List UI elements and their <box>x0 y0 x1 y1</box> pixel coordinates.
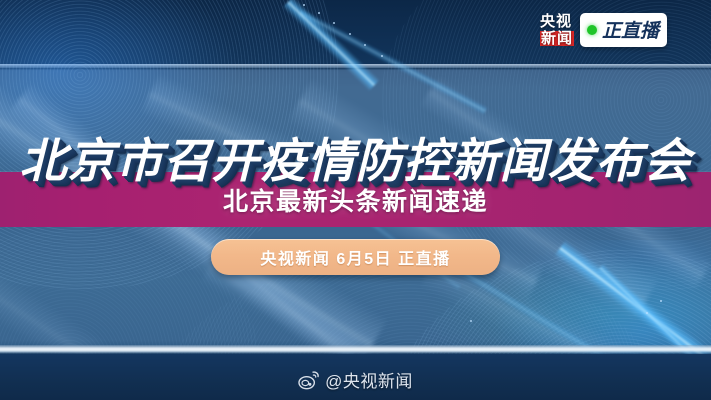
live-info-pill[interactable]: 央视新闻 6月5日 正直播 <box>211 239 500 275</box>
cctv-logo-line-2: 新闻 <box>540 31 574 46</box>
news-poster: 北京市召开疫情防控新闻发布会 北京最新头条新闻速递 央视新闻 6月5日 正直播 … <box>0 0 711 400</box>
cctv-logo-line-1: 央视 <box>540 14 574 29</box>
live-status-chip[interactable]: 正直播 <box>580 13 667 47</box>
green-dot-icon <box>587 25 597 35</box>
live-status-label: 正直播 <box>602 16 659 43</box>
cctv-live-badge[interactable]: 央视 新闻 正直播 <box>540 13 667 47</box>
cctv-news-logo: 央视 新闻 <box>540 14 574 46</box>
bottom-divider-band <box>0 345 711 354</box>
live-info-pill-label: 央视新闻 6月5日 正直播 <box>260 245 450 269</box>
headline-text: 北京市召开疫情防控新闻发布会 <box>0 133 711 189</box>
weibo-watermark: @央视新闻 <box>0 367 711 392</box>
overlay-title-text: 北京最新头条新闻速递 <box>0 186 711 218</box>
weibo-icon <box>298 370 320 390</box>
weibo-handle: @央视新闻 <box>325 367 413 392</box>
